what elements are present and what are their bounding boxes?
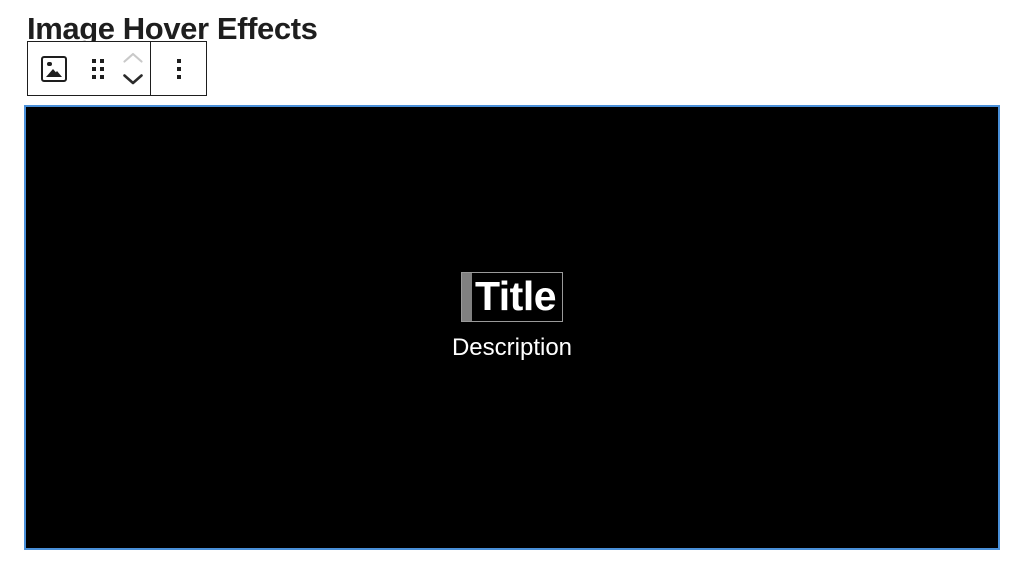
image-icon (41, 56, 67, 82)
move-down-button[interactable] (118, 70, 148, 88)
move-up-button[interactable] (118, 49, 148, 67)
toolbar-main-group (28, 42, 150, 95)
more-options-button[interactable] (151, 42, 206, 95)
overlay-content: Title Description (452, 272, 572, 362)
chevron-up-icon (122, 51, 144, 65)
chevron-down-icon (122, 72, 144, 86)
image-icon-mountain-small (52, 71, 62, 77)
text-caret (462, 273, 472, 320)
image-hover-effects-block[interactable]: Title Description (24, 105, 1000, 550)
overlay-title-text[interactable]: Title (472, 273, 558, 320)
overlay-title-field[interactable]: Title (461, 272, 563, 321)
image-icon-sun (47, 62, 52, 67)
editor-canvas: Image Hover Effects (0, 0, 1024, 578)
block-movers (116, 42, 150, 95)
drag-handle-button[interactable] (80, 42, 116, 95)
more-vertical-icon (177, 59, 181, 79)
drag-handle-icon (92, 59, 104, 79)
block-toolbar (27, 41, 207, 96)
overlay-description-text[interactable]: Description (452, 334, 572, 363)
block-type-button[interactable] (28, 42, 80, 95)
toolbar-options-group (150, 42, 206, 95)
